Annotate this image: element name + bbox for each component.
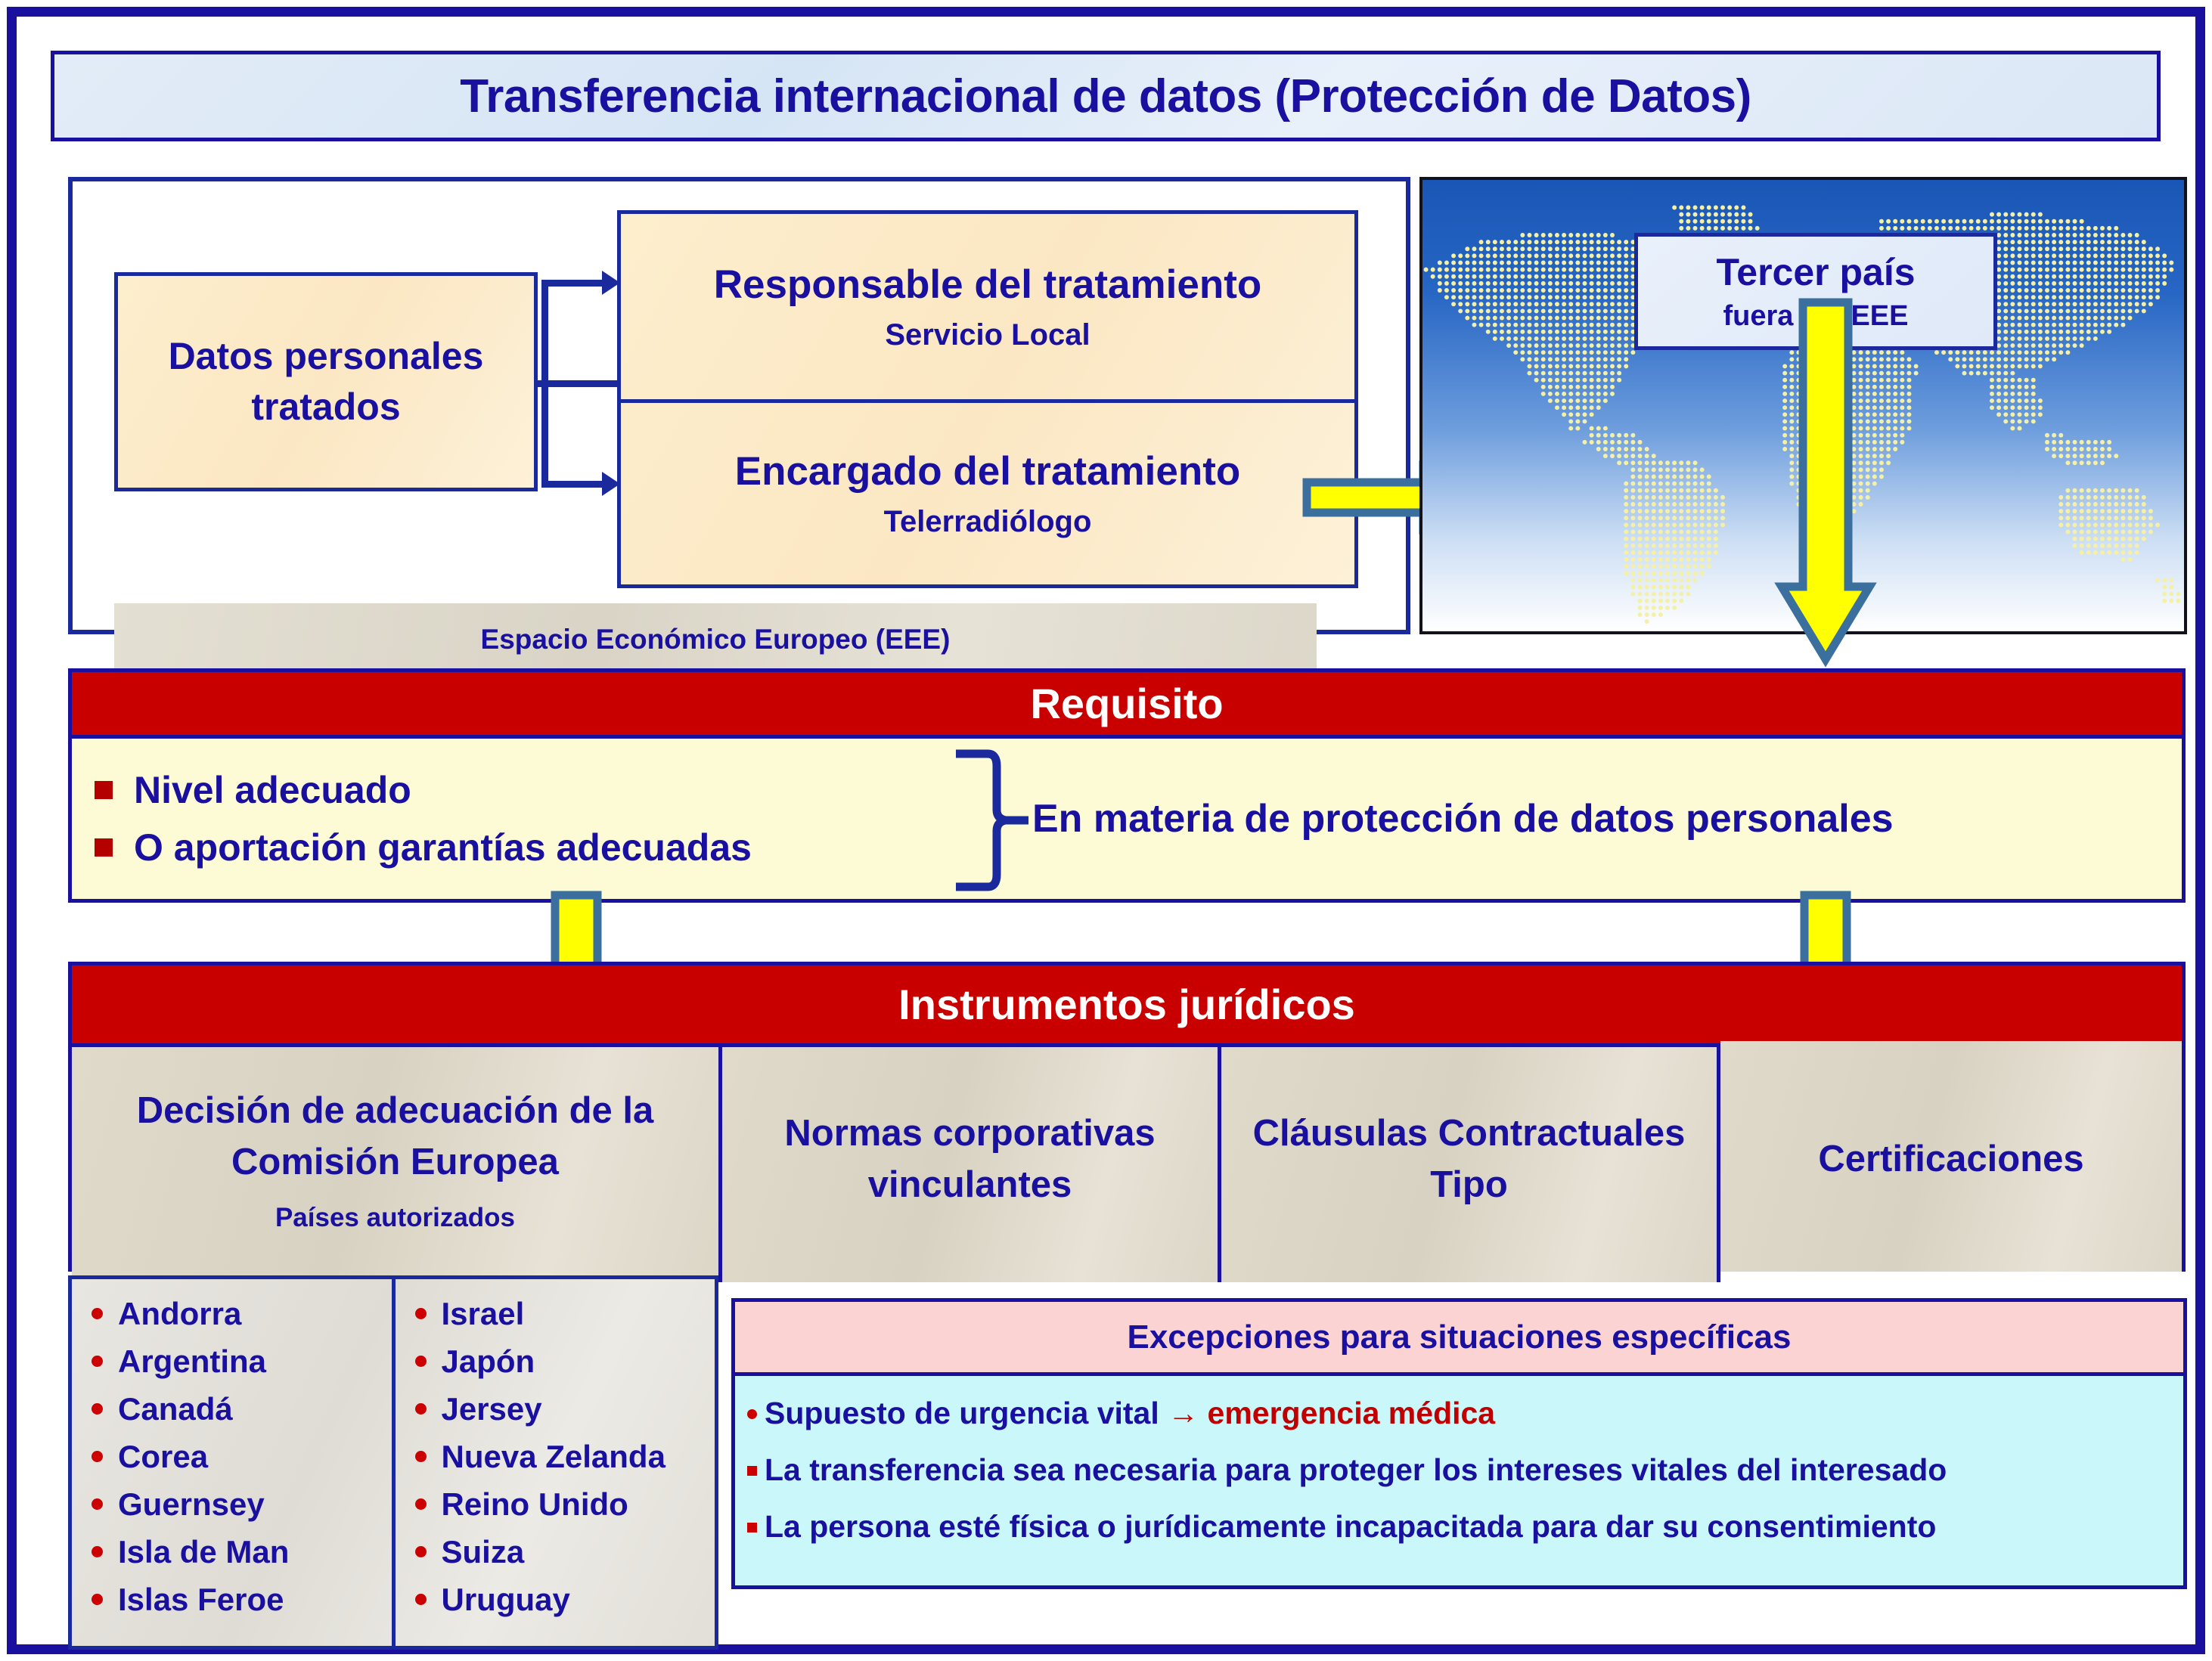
- eee-panel: Datos personales tratados Responsable de…: [68, 177, 1410, 634]
- instrumentos-header-text: Instrumentos jurídicos: [898, 980, 1355, 1029]
- excepcion-1-post: emergencia médica: [1199, 1396, 1495, 1430]
- instrumentos-header: Instrumentos jurídicos: [72, 965, 2182, 1047]
- country-item: Reino Unido: [415, 1480, 715, 1528]
- country-label: Nueva Zelanda: [442, 1439, 665, 1475]
- excepciones-body: Supuesto de urgencia vital → emergencia …: [735, 1376, 2183, 1585]
- instrumento-clausulas-contractuales: Cláusulas Contractuales Tipo: [1221, 1047, 1720, 1282]
- right-arrow-icon: →: [1168, 1396, 1199, 1430]
- instrumento-subtitle: Países autorizados: [275, 1203, 515, 1233]
- role-encargado-heading: Encargado del tratamiento: [735, 448, 1241, 494]
- instrumento-heading: Decisión de adecuación de la Comisión Eu…: [72, 1086, 718, 1188]
- country-label: Argentina: [118, 1343, 266, 1380]
- instrumento-heading: Normas corporativas vinculantes: [722, 1108, 1218, 1210]
- excepcion-item-1-text: Supuesto de urgencia vital → emergencia …: [765, 1396, 1495, 1431]
- country-item: Argentina: [92, 1337, 392, 1385]
- tercer-pais-line1: Tercer país: [1716, 250, 1915, 294]
- instrumento-heading: Certificaciones: [1818, 1134, 2083, 1185]
- country-label: Jersey: [442, 1391, 542, 1427]
- bullet-dot-icon: [92, 1403, 103, 1415]
- country-label: Suiza: [442, 1534, 525, 1570]
- connector-top: [541, 280, 611, 287]
- excepcion-item-2-text: La transferencia sea necesaria para prot…: [765, 1452, 1947, 1488]
- requisito-list: Nivel adecuado O aportación garantías ad…: [95, 755, 957, 883]
- requisito-header-text: Requisito: [1030, 679, 1223, 728]
- bullet-dot-icon: [92, 1546, 103, 1557]
- instrumentos-block: Instrumentos jurídicos Decisión de adecu…: [68, 962, 2186, 1272]
- country-item: Israel: [415, 1290, 715, 1337]
- countries-column-2: IsraelJapónJerseyNueva ZelandaReino Unid…: [396, 1279, 715, 1646]
- instrumentos-columns: Decisión de adecuación de la Comisión Eu…: [72, 1047, 2182, 1272]
- country-item: Isla de Man: [92, 1528, 392, 1576]
- instrumento-decision-adecuacion: Decisión de adecuación de la Comisión Eu…: [72, 1047, 722, 1282]
- country-item: Guernsey: [92, 1480, 392, 1528]
- bullet-dot-icon: [92, 1451, 103, 1462]
- country-label: Corea: [118, 1439, 208, 1475]
- bullet-dot-icon: [92, 1308, 103, 1319]
- bullet-dot-icon: [747, 1409, 757, 1419]
- role-encargado-subtitle: Telerradiólogo: [884, 505, 1092, 539]
- country-label: Islas Feroe: [118, 1582, 284, 1618]
- country-item: Canadá: [92, 1385, 392, 1433]
- requisito-item: O aportación garantías adecuadas: [95, 826, 957, 869]
- datos-personales-box: Datos personales tratados: [114, 272, 538, 491]
- roles-box: Responsable del tratamiento Servicio Loc…: [617, 210, 1358, 588]
- countries-column-1: AndorraArgentinaCanadáCoreaGuernseyIsla …: [72, 1279, 396, 1646]
- bullet-dot-icon: [415, 1594, 427, 1605]
- requisito-brace-text: En materia de protección de datos person…: [1032, 739, 1894, 899]
- instrumento-normas-corporativas: Normas corporativas vinculantes: [722, 1047, 1221, 1282]
- requisito-header: Requisito: [72, 672, 2182, 739]
- role-responsable-heading: Responsable del tratamiento: [714, 262, 1262, 308]
- slide-frame: Transferencia internacional de datos (Pr…: [7, 7, 2205, 1654]
- bullet-dot-icon: [92, 1498, 103, 1510]
- excepcion-item-3-text: La persona esté física o jurídicamente i…: [765, 1509, 1936, 1545]
- requisito-body: Nivel adecuado O aportación garantías ad…: [72, 739, 2182, 899]
- country-item: Suiza: [415, 1528, 715, 1576]
- country-label: Reino Unido: [442, 1486, 628, 1523]
- authorized-countries-list: AndorraArgentinaCanadáCoreaGuernseyIsla …: [68, 1275, 718, 1650]
- excepcion-item-3: La persona esté física o jurídicamente i…: [747, 1509, 2183, 1545]
- bullet-dot-icon: [415, 1308, 427, 1319]
- country-item: Uruguay: [415, 1576, 715, 1623]
- country-label: Isla de Man: [118, 1534, 289, 1570]
- country-label: Israel: [442, 1296, 525, 1332]
- bullet-square-icon: [95, 781, 113, 799]
- instrumento-certificaciones: Certificaciones: [1720, 1041, 2182, 1272]
- country-item: Japón: [415, 1337, 715, 1385]
- requisito-item-label: O aportación garantías adecuadas: [134, 826, 752, 869]
- bullet-dot-icon: [415, 1403, 427, 1415]
- connector-bottom: [541, 481, 611, 488]
- requisito-block: Requisito Nivel adecuado O aportación ga…: [68, 668, 2186, 903]
- page-title-text: Transferencia internacional de datos (Pr…: [460, 70, 1751, 123]
- bullet-dot-icon: [415, 1546, 427, 1557]
- bullet-square-icon: [747, 1523, 757, 1532]
- excepcion-1-pre: Supuesto de urgencia vital: [765, 1396, 1168, 1430]
- connector-stub: [535, 380, 622, 387]
- country-item: Corea: [92, 1433, 392, 1480]
- requisito-item: Nivel adecuado: [95, 768, 957, 812]
- role-responsable-subtitle: Servicio Local: [885, 318, 1090, 352]
- country-item: Jersey: [415, 1385, 715, 1433]
- connector-vertical: [541, 280, 548, 488]
- bullet-dot-icon: [92, 1356, 103, 1367]
- page-title: Transferencia internacional de datos (Pr…: [51, 51, 2161, 141]
- country-label: Japón: [442, 1343, 535, 1380]
- country-item: Islas Feroe: [92, 1576, 392, 1623]
- country-label: Canadá: [118, 1391, 233, 1427]
- country-label: Guernsey: [118, 1486, 265, 1523]
- role-responsable: Responsable del tratamiento Servicio Loc…: [621, 214, 1354, 399]
- requisito-item-label: Nivel adecuado: [134, 768, 411, 812]
- eee-strip-line1: Espacio Económico Europeo (EEE): [481, 618, 951, 661]
- bullet-dot-icon: [92, 1594, 103, 1605]
- country-item: Andorra: [92, 1290, 392, 1337]
- excepciones-block: Excepciones para situaciones específicas…: [731, 1298, 2187, 1589]
- role-encargado: Encargado del tratamiento Telerradiólogo: [621, 399, 1354, 584]
- requisito-brace-label: En materia de protección de datos person…: [1032, 796, 1894, 841]
- bullet-dot-icon: [415, 1356, 427, 1367]
- bullet-dot-icon: [415, 1498, 427, 1510]
- datos-personales-label: Datos personales tratados: [118, 331, 534, 433]
- excepciones-header: Excepciones para situaciones específicas: [735, 1302, 2183, 1376]
- country-item: Nueva Zelanda: [415, 1433, 715, 1480]
- country-label: Uruguay: [442, 1582, 570, 1618]
- excepcion-item-1: Supuesto de urgencia vital → emergencia …: [747, 1396, 2183, 1431]
- instrumento-heading: Cláusulas Contractuales Tipo: [1221, 1108, 1717, 1210]
- bullet-square-icon: [747, 1466, 757, 1476]
- excepcion-item-2: La transferencia sea necesaria para prot…: [747, 1452, 2183, 1488]
- bullet-square-icon: [95, 838, 113, 857]
- map-to-requisito-arrow-icon: [1773, 298, 1878, 668]
- curly-brace-icon: [953, 749, 1036, 895]
- excepciones-header-text: Excepciones para situaciones específicas: [1127, 1319, 1791, 1356]
- bullet-dot-icon: [415, 1451, 427, 1462]
- country-label: Andorra: [118, 1296, 241, 1332]
